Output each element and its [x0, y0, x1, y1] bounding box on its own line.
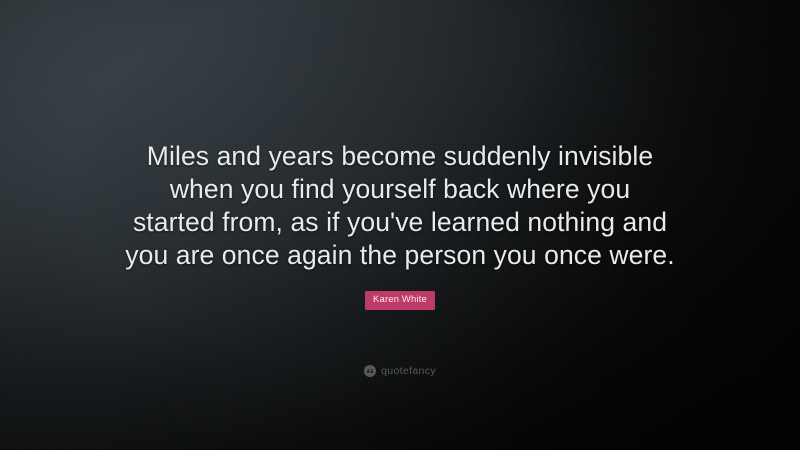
- quote-line-2: when you find yourself back where you: [0, 173, 800, 206]
- quote-card: Miles and years become suddenly invisibl…: [0, 0, 800, 450]
- author-attribution: Karen White: [0, 289, 800, 310]
- quote-line-4: you are once again the person you once w…: [0, 239, 800, 272]
- author-name-badge[interactable]: Karen White: [365, 291, 435, 310]
- quote-line-1: Miles and years become suddenly invisibl…: [0, 140, 800, 173]
- card-content: Miles and years become suddenly invisibl…: [0, 0, 800, 450]
- quote-line-3: started from, as if you've learned nothi…: [0, 206, 800, 239]
- quote-text: Miles and years become suddenly invisibl…: [0, 140, 800, 272]
- watermark-brand-label: quotefancy: [381, 366, 436, 377]
- quote-mark-icon: [364, 365, 376, 377]
- quotefancy-watermark[interactable]: quotefancy: [0, 365, 800, 377]
